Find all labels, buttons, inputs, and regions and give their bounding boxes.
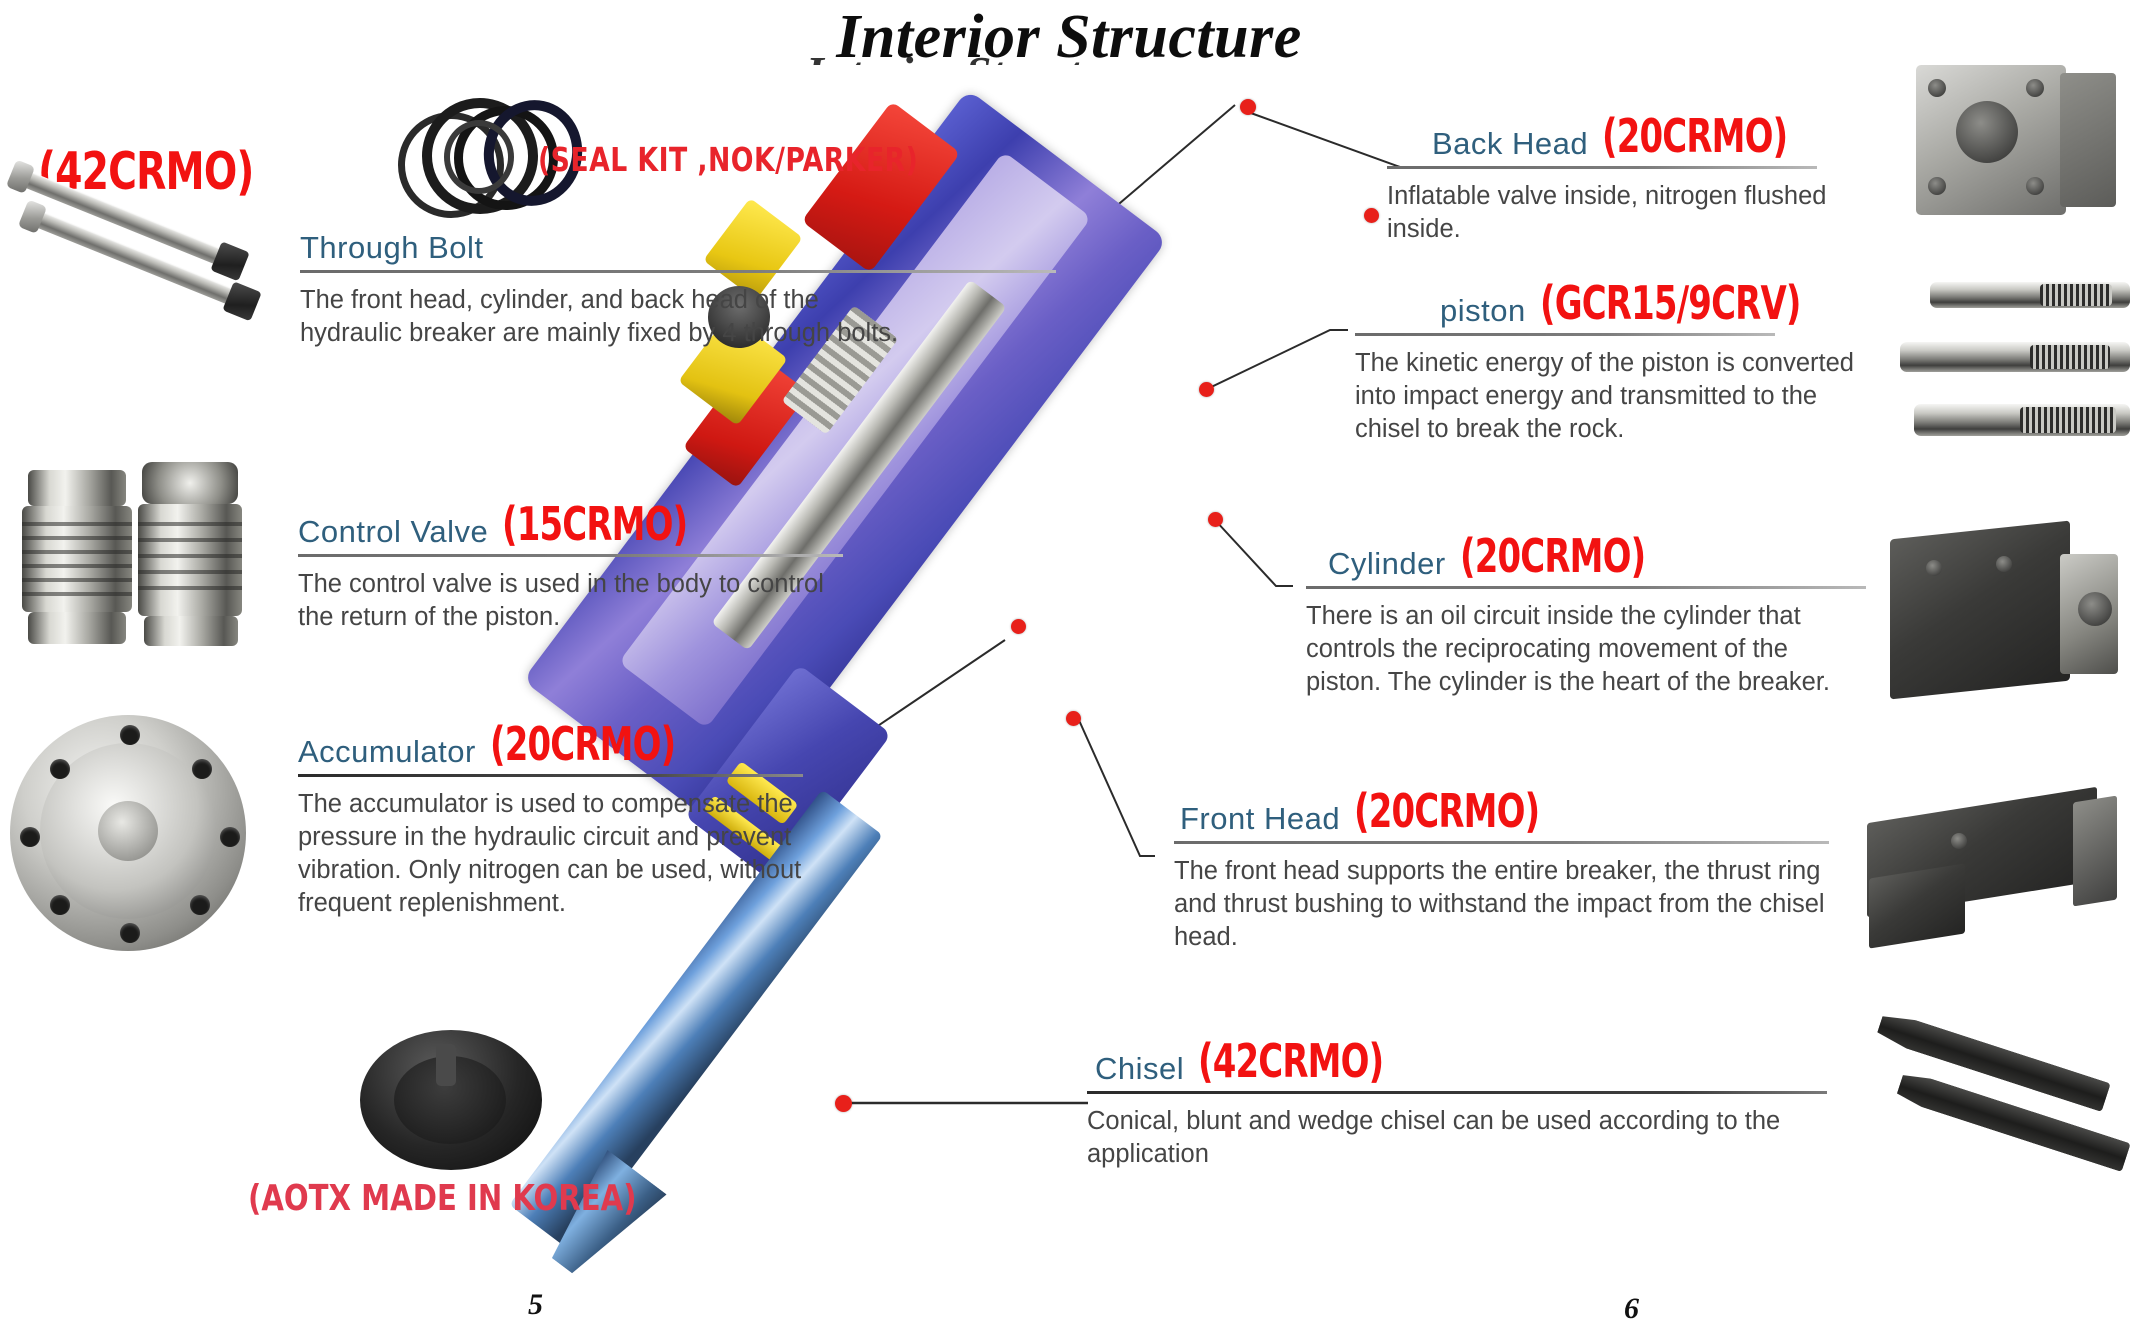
front-head-part-label: Front Head xyxy=(1180,803,1340,834)
through-bolt-description: The front head, cylinder, and back head … xyxy=(300,284,920,350)
cylinder-part-label: Cylinder xyxy=(1328,548,1446,579)
accumulator-description: The accumulator is used to compensate th… xyxy=(298,788,828,921)
piston-part-label: piston xyxy=(1440,295,1526,326)
control-valve-part-label: Control Valve xyxy=(298,516,488,547)
callout-back-head: Back Head (20CRMO) Inflatable valve insi… xyxy=(1432,115,1992,246)
front-head-photo xyxy=(1855,775,2130,955)
chisel-photos xyxy=(1860,1010,2138,1200)
callout-chisel: Chisel (42CRMO) Conical, blunt and wedge… xyxy=(1095,1040,1795,1171)
chisel-description: Conical, blunt and wedge chisel can be u… xyxy=(1087,1105,1787,1171)
piston-material-label: (GCR15/9CRV) xyxy=(1540,282,1801,326)
front-head-description: The front head supports the entire break… xyxy=(1174,855,1844,954)
back-head-description: Inflatable valve inside, nitrogen flushe… xyxy=(1387,180,1837,246)
cylinder-photo xyxy=(1880,520,2130,720)
piston-description: The kinetic energy of the piston is conv… xyxy=(1355,347,1875,446)
accumulator-material-label: (20CRMO) xyxy=(490,723,675,767)
callout-accumulator: Accumulator (20CRMO) The accumulator is … xyxy=(298,723,918,920)
back-head-material-label: (20CRMO) xyxy=(1602,115,1787,159)
callout-cylinder: Cylinder (20CRMO) There is an oil circui… xyxy=(1328,535,1908,699)
callout-front-head: Front Head (20CRMO) The front head suppo… xyxy=(1180,790,1860,954)
control-valve-photo xyxy=(14,440,244,670)
callout-control-valve: Control Valve (15CRMO) The control valve… xyxy=(298,503,938,634)
page-number-right: 6 xyxy=(1624,1292,1639,1326)
accumulator-part-label: Accumulator xyxy=(298,736,476,767)
anchor-dot-back-head-2 xyxy=(1364,208,1379,223)
control-valve-description: The control valve is used in the body to… xyxy=(298,568,858,634)
accumulator-photo xyxy=(10,715,260,965)
through-bolt-photo xyxy=(8,190,288,350)
aotx-cap-photo xyxy=(360,1030,550,1180)
chisel-material-label: (42CRMO) xyxy=(1198,1040,1383,1084)
page-number-left: 5 xyxy=(528,1288,543,1322)
front-head-material-label: (20CRMO) xyxy=(1354,790,1539,834)
cylinder-material-label: (20CRMO) xyxy=(1460,535,1645,579)
through-bolt-part-label: Through Bolt xyxy=(300,232,484,263)
callout-piston: piston (GCR15/9CRV) The kinetic energy o… xyxy=(1440,282,2020,446)
back-head-part-label: Back Head xyxy=(1432,128,1588,159)
chisel-part-label: Chisel xyxy=(1095,1053,1184,1084)
control-valve-material-label: (15CRMO) xyxy=(502,503,687,547)
aotx-caption: (AOTX MADE IN KOREA) xyxy=(248,1178,637,1219)
callout-through-bolt: Through Bolt The front head, cylinder, a… xyxy=(300,232,940,350)
seal-kit-caption: (SEAL KIT ,NOK/PARKER) xyxy=(538,140,918,179)
cylinder-description: There is an oil circuit inside the cylin… xyxy=(1306,600,1856,699)
